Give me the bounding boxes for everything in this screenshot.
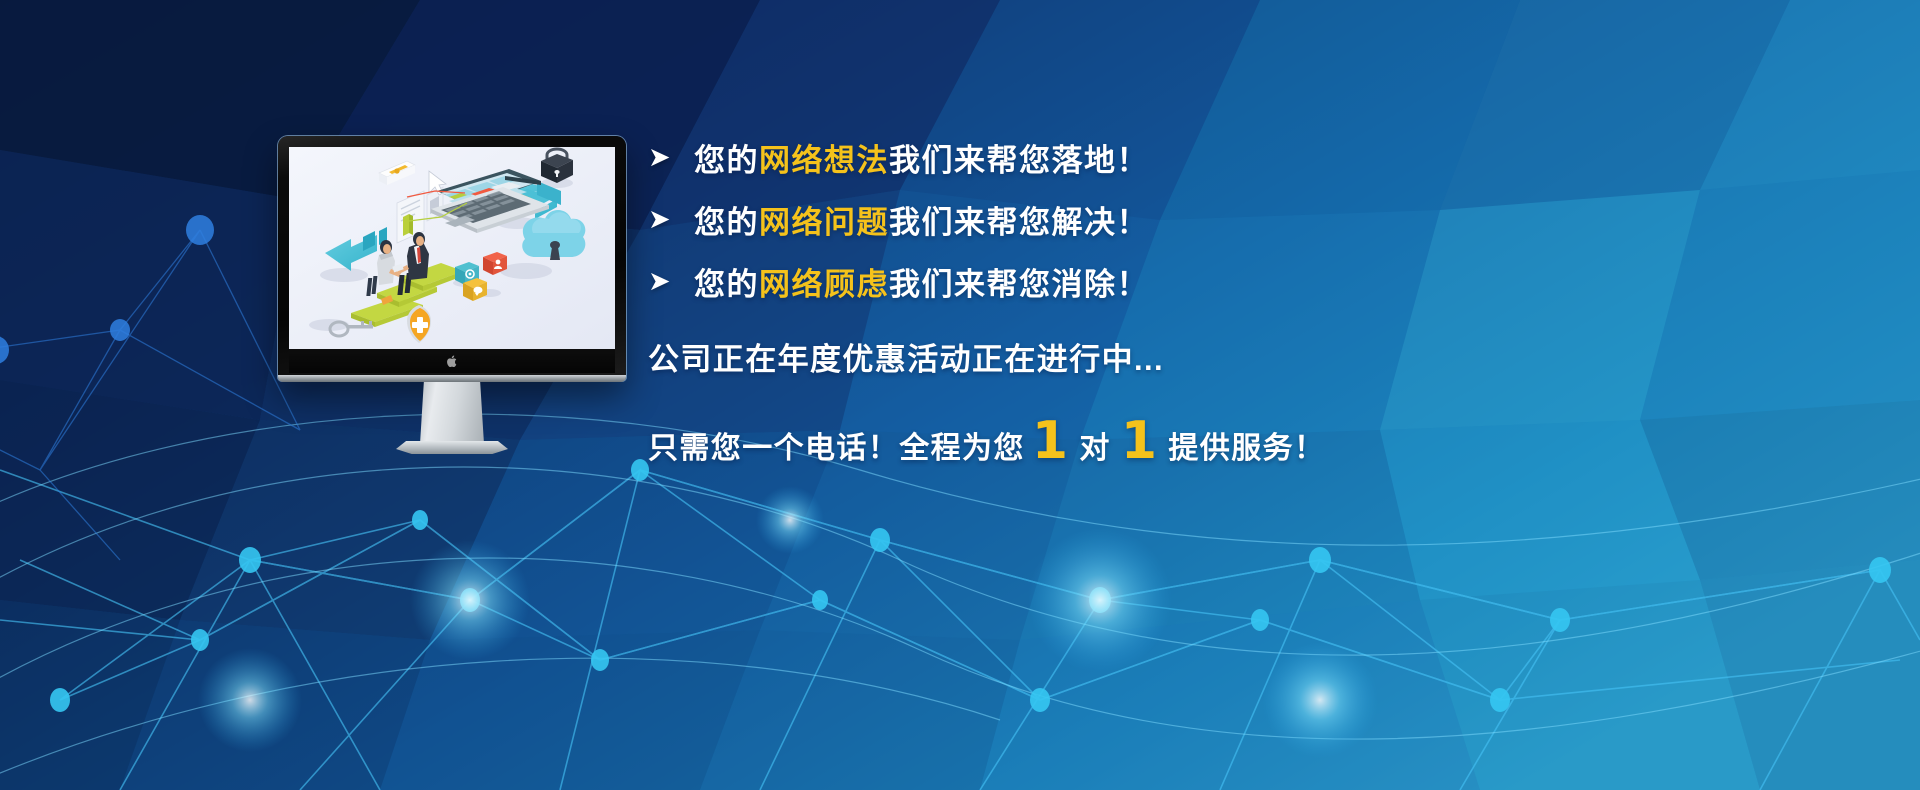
promo-banner: ➤ 您的网络想法我们来帮您落地！ ➤ 您的网络问题我们来帮您解决！ ➤ 您的网络… bbox=[0, 0, 1920, 790]
isometric-network-security-illustration bbox=[289, 147, 615, 349]
arrow-bullet-icon: ➤ bbox=[648, 206, 694, 233]
monitor-stand-neck bbox=[420, 382, 484, 444]
callout-tail: 提供服务！ bbox=[1165, 423, 1328, 467]
bullet-suffix-3: 我们来帮您消除！ bbox=[889, 267, 1149, 302]
bullet-suffix-2: 我们来帮您解决！ bbox=[889, 205, 1149, 240]
bullet-text-3: 您的网络顾虑我们来帮您消除！ bbox=[694, 259, 1149, 304]
monitor-stand-base bbox=[396, 441, 508, 454]
apple-display-monitor bbox=[278, 136, 626, 446]
arrow-bullet-icon: ➤ bbox=[648, 144, 694, 171]
bullet-row-2: ➤ 您的网络问题我们来帮您解决！ bbox=[648, 188, 1768, 250]
monitor-screen bbox=[289, 147, 615, 349]
bullet-text-1: 您的网络想法我们来帮您落地！ bbox=[694, 135, 1149, 180]
bullet-highlight-3: 网络顾虑 bbox=[759, 267, 889, 302]
bullet-row-3: ➤ 您的网络顾虑我们来帮您消除！ bbox=[648, 250, 1768, 312]
monitor-chin bbox=[289, 349, 615, 373]
bullet-highlight-2: 网络问题 bbox=[759, 205, 889, 240]
bullet-text-2: 您的网络问题我们来帮您解决！ bbox=[694, 197, 1149, 242]
apple-logo-icon bbox=[447, 355, 458, 368]
callout-number-first: 1 bbox=[1025, 411, 1077, 471]
callout-number-second: 1 bbox=[1114, 411, 1166, 471]
bullet-row-1: ➤ 您的网络想法我们来帮您落地！ bbox=[648, 126, 1768, 188]
bullet-suffix-1: 我们来帮您落地！ bbox=[889, 143, 1149, 178]
promo-line: 公司正在年度优惠活动正在进行中... bbox=[648, 334, 1768, 379]
copy-block: ➤ 您的网络想法我们来帮您落地！ ➤ 您的网络问题我们来帮您解决！ ➤ 您的网络… bbox=[648, 126, 1768, 471]
callout-line: 只需您一个电话！全程为您 1 对 1 提供服务！ bbox=[648, 411, 1768, 471]
bullet-prefix-3: 您的 bbox=[694, 267, 759, 302]
bullet-highlight-1: 网络想法 bbox=[759, 143, 889, 178]
monitor-bottom-edge bbox=[278, 375, 626, 382]
bullet-prefix-1: 您的 bbox=[694, 143, 759, 178]
arrow-bullet-icon: ➤ bbox=[648, 268, 694, 295]
callout-lead: 只需您一个电话！全程为您 bbox=[648, 423, 1025, 467]
monitor-bezel bbox=[278, 136, 626, 381]
bullet-prefix-2: 您的 bbox=[694, 205, 759, 240]
callout-middle: 对 bbox=[1076, 423, 1113, 467]
